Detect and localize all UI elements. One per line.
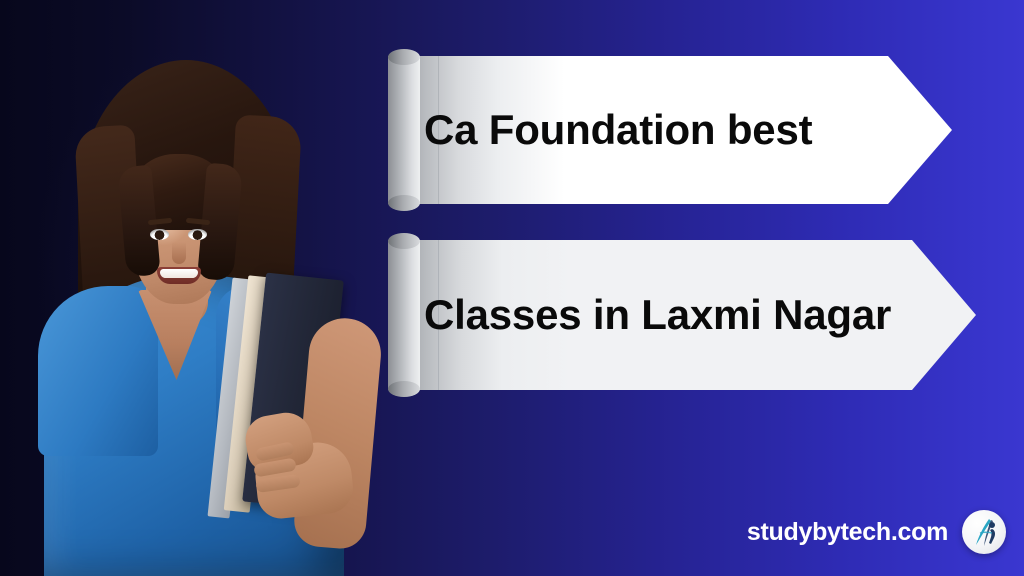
teeth: [160, 269, 198, 278]
brand-footer: studybytech.com: [747, 510, 1006, 554]
student-photo: [20, 16, 380, 576]
eye-left: [150, 229, 169, 240]
shirt-shoulder-left: [38, 286, 158, 456]
promo-banner-canvas: Ca Foundation best Classes in Laxmi Naga…: [0, 0, 1024, 576]
nose: [172, 242, 186, 264]
banner-2-headline: Classes in Laxmi Nagar: [398, 240, 976, 390]
banner-line-1: Ca Foundation best: [398, 56, 952, 204]
banner-line-2: Classes in Laxmi Nagar: [398, 240, 976, 390]
studybytech-logo-icon: [962, 510, 1006, 554]
banner-1-headline: Ca Foundation best: [398, 56, 952, 204]
website-url: studybytech.com: [747, 518, 948, 547]
eye-right: [188, 229, 207, 240]
